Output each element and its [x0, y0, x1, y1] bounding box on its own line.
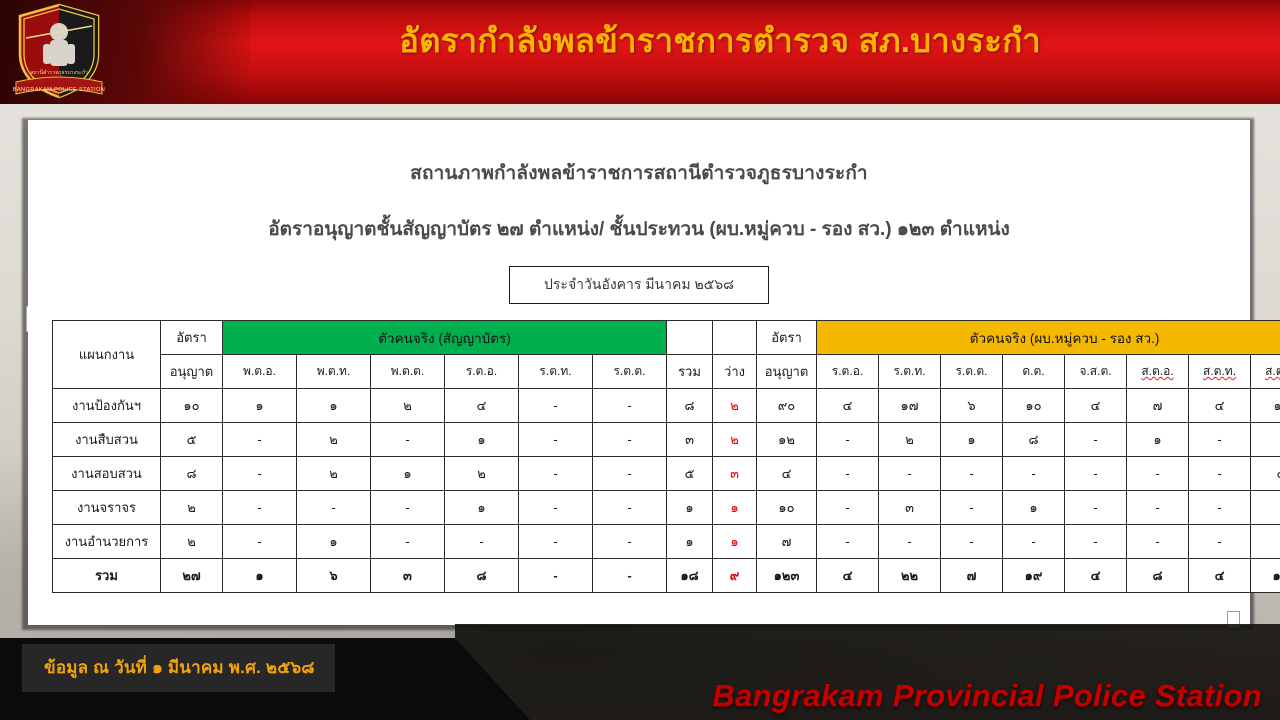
logo-thai-text: สถานีตำรวจภูธรบางระกำ — [30, 69, 88, 76]
cell-actual-noncommissioned-5: - — [1127, 491, 1189, 525]
cell-actual-noncommissioned-0: - — [817, 491, 879, 525]
embedded-spreadsheet-document[interactable]: สถานภาพกำลังพลข้าราชการสถานีตำรวจภูธรบาง… — [28, 120, 1250, 625]
cell-actual-noncommissioned-0: - — [817, 525, 879, 559]
cell-actual-commissioned-2: ๓ — [371, 559, 445, 593]
cell-actual-commissioned-2: ๑ — [371, 457, 445, 491]
table-container: แผนกงาน อัตรา ตัวคนจริง (สัญญาบัตร) อัตร… — [52, 320, 1232, 593]
cell-quota-commissioned: ๒ — [161, 491, 223, 525]
cell-actual-commissioned-1: ๒ — [297, 457, 371, 491]
col-header-rank-n-0: ร.ต.อ. — [817, 355, 879, 389]
cell-actual-noncommissioned-5: ๘ — [1127, 559, 1189, 593]
cell-actual-noncommissioned-2: - — [941, 457, 1003, 491]
cell-actual-noncommissioned-5: - — [1127, 457, 1189, 491]
cell-quota-noncommissioned: ๙๐ — [757, 389, 817, 423]
col-header-department: แผนกงาน — [53, 321, 161, 389]
cell-actual-commissioned-3: ๒ — [445, 457, 519, 491]
cell-sum-commissioned: ๑ — [667, 491, 713, 525]
table-header-sub-row: อนุญาต พ.ต.อ. พ.ต.ท. พ.ต.ต. ร.ต.อ. ร.ต.ท… — [53, 355, 1280, 389]
cell-actual-noncommissioned-3: - — [1003, 525, 1065, 559]
cell-actual-noncommissioned-6: ๔ — [1189, 389, 1251, 423]
cell-actual-commissioned-1: ๖ — [297, 559, 371, 593]
cell-actual-noncommissioned-4: - — [1065, 491, 1127, 525]
cell-vacant-commissioned: ๑ — [713, 491, 757, 525]
cell-actual-noncommissioned-2: ๑ — [941, 423, 1003, 457]
cell-actual-commissioned-4: - — [519, 423, 593, 457]
date-box: ประจำวันอังคาร มีนาคม ๒๕๖๘ — [509, 266, 769, 304]
col-header-rank-n-5: ส.ต.อ. — [1127, 355, 1189, 389]
cell-actual-commissioned-3: ๘ — [445, 559, 519, 593]
cell-actual-noncommissioned-6: ๔ — [1189, 559, 1251, 593]
col-header-rank-n-4: จ.ส.ต. — [1065, 355, 1127, 389]
cell-actual-noncommissioned-1: ๓ — [879, 491, 941, 525]
cell-actual-commissioned-1: ๑ — [297, 389, 371, 423]
cell-actual-commissioned-2: - — [371, 423, 445, 457]
cell-actual-commissioned-1: ๒ — [297, 423, 371, 457]
cell-actual-commissioned-3: - — [445, 525, 519, 559]
group-header-noncommissioned: ตัวคนจริง (ผบ.หมู่ควบ - รอง สว.) — [817, 321, 1280, 355]
col-header-rank-n-6: ส.ต.ท. — [1189, 355, 1251, 389]
cell-actual-commissioned-0: ๑ — [223, 559, 297, 593]
col-header-quota-noncommissioned-1: อัตรา — [757, 321, 817, 355]
group-header-commissioned: ตัวคนจริง (สัญญาบัตร) — [223, 321, 667, 355]
cell-actual-commissioned-3: ๑ — [445, 491, 519, 525]
cell-actual-commissioned-5: - — [593, 457, 667, 491]
cell-actual-noncommissioned-5: ๗ — [1127, 389, 1189, 423]
cell-actual-commissioned-5: - — [593, 389, 667, 423]
cell-department: งานอำนวยการ — [53, 525, 161, 559]
document-heading: สถานภาพกำลังพลข้าราชการสถานีตำรวจภูธรบาง… — [28, 120, 1250, 304]
table-row: งานจราจร๒---๑--๑๑๑๐-๓-๑----๔๖ — [53, 491, 1280, 525]
cell-actual-noncommissioned-4: - — [1065, 423, 1127, 457]
cell-actual-noncommissioned-6: - — [1189, 525, 1251, 559]
col-header-rank-c-0: พ.ต.อ. — [223, 355, 297, 389]
cell-actual-noncommissioned-4: - — [1065, 457, 1127, 491]
cell-actual-noncommissioned-2: ๖ — [941, 389, 1003, 423]
col-header-rank-c-2: พ.ต.ต. — [371, 355, 445, 389]
cell-actual-noncommissioned-7: ๑๔ — [1251, 559, 1280, 593]
table-row: งานป้องกันฯ๑๐๑๑๒๔--๘๒๙๐๔๑๗๖๑๐๔๗๔๑๐๖๒๒๘ — [53, 389, 1280, 423]
cell-actual-noncommissioned-0: ๔ — [817, 559, 879, 593]
col-header-rank-c-5: ร.ต.ต. — [593, 355, 667, 389]
cell-department: รวม — [53, 559, 161, 593]
cell-actual-commissioned-0: - — [223, 457, 297, 491]
table-row: งานสอบสวน๘-๒๑๒--๕๓๔-------๔๔- — [53, 457, 1280, 491]
cell-actual-noncommissioned-3: ๑๐ — [1003, 389, 1065, 423]
cell-sum-commissioned: ๘ — [667, 389, 713, 423]
cell-quota-commissioned: ๕ — [161, 423, 223, 457]
data-as-of-note: ข้อมูล ณ วันที่ ๑ มีนาคม พ.ศ. ๒๕๖๘ — [22, 644, 335, 692]
cell-actual-commissioned-2: ๒ — [371, 389, 445, 423]
cell-quota-commissioned: ๒๗ — [161, 559, 223, 593]
cell-actual-commissioned-4: - — [519, 525, 593, 559]
cell-actual-noncommissioned-4: ๔ — [1065, 559, 1127, 593]
cell-actual-commissioned-1: ๑ — [297, 525, 371, 559]
cell-actual-commissioned-5: - — [593, 423, 667, 457]
cell-actual-noncommissioned-1: ๑๗ — [879, 389, 941, 423]
cell-quota-commissioned: ๒ — [161, 525, 223, 559]
col-header-vacant-commissioned: ว่าง — [713, 355, 757, 389]
cell-quota-noncommissioned: ๗ — [757, 525, 817, 559]
cell-actual-noncommissioned-1: - — [879, 525, 941, 559]
table-total-row: รวม๒๗๑๖๓๘--๑๘๙๑๒๓๔๒๒๗๑๙๔๘๔๑๔๗๒๕๑ — [53, 559, 1280, 593]
document-title-line2: อัตราอนุญาตชั้นสัญญาบัตร ๒๗ ตำแหน่ง/ ชั้… — [28, 214, 1250, 244]
col-header-rank-n-3: ด.ต. — [1003, 355, 1065, 389]
cell-actual-commissioned-0: - — [223, 491, 297, 525]
cell-actual-commissioned-5: - — [593, 559, 667, 593]
spacer-sum-commissioned — [667, 321, 713, 355]
col-header-sum-commissioned: รวม — [667, 355, 713, 389]
cell-actual-noncommissioned-5: - — [1127, 525, 1189, 559]
cell-quota-noncommissioned: ๑๒๓ — [757, 559, 817, 593]
col-header-rank-c-1: พ.ต.ท. — [297, 355, 371, 389]
col-header-quota-commissioned-2: อนุญาต — [161, 355, 223, 389]
cell-actual-noncommissioned-1: ๒ — [879, 423, 941, 457]
spacer-vacant-commissioned — [713, 321, 757, 355]
cell-vacant-commissioned: ๒ — [713, 389, 757, 423]
col-header-rank-n-7: ส.ต.ต. — [1251, 355, 1280, 389]
cell-actual-commissioned-4: - — [519, 491, 593, 525]
cell-actual-commissioned-0: ๑ — [223, 389, 297, 423]
cell-actual-noncommissioned-7: - — [1251, 491, 1280, 525]
cell-actual-commissioned-5: - — [593, 525, 667, 559]
cell-actual-noncommissioned-4: ๔ — [1065, 389, 1127, 423]
cell-actual-noncommissioned-6: - — [1189, 423, 1251, 457]
cell-actual-commissioned-3: ๑ — [445, 423, 519, 457]
table-head: แผนกงาน อัตรา ตัวคนจริง (สัญญาบัตร) อัตร… — [53, 321, 1280, 389]
col-header-rank-n-2: ร.ต.ต. — [941, 355, 1003, 389]
police-badge-logo: สถานีตำรวจภูธรบางระกำ BANGRAKAM POLICE S… — [12, 2, 106, 102]
cell-actual-noncommissioned-6: - — [1189, 491, 1251, 525]
cell-vacant-commissioned: ๙ — [713, 559, 757, 593]
cell-sum-commissioned: ๑ — [667, 525, 713, 559]
cell-vacant-commissioned: ๑ — [713, 525, 757, 559]
cell-actual-noncommissioned-2: - — [941, 491, 1003, 525]
cell-actual-commissioned-1: - — [297, 491, 371, 525]
cell-sum-commissioned: ๓ — [667, 423, 713, 457]
col-header-rank-c-3: ร.ต.อ. — [445, 355, 519, 389]
cell-actual-noncommissioned-7: - — [1251, 423, 1280, 457]
cell-quota-noncommissioned: ๑๒ — [757, 423, 817, 457]
cell-actual-noncommissioned-0: - — [817, 423, 879, 457]
station-name: Bangrakam Provincial Police Station — [712, 678, 1262, 714]
cell-actual-commissioned-3: ๔ — [445, 389, 519, 423]
cell-actual-noncommissioned-6: - — [1189, 457, 1251, 491]
cell-department: งานสืบสวน — [53, 423, 161, 457]
cell-quota-noncommissioned: ๔ — [757, 457, 817, 491]
table-row: งานอำนวยการ๒-๑----๑๑๗---------๗ — [53, 525, 1280, 559]
page-title: อัตรากำลังพลข้าราชการตำรวจ สภ.บางระกำ — [200, 20, 1240, 61]
staffing-table: แผนกงาน อัตรา ตัวคนจริง (สัญญาบัตร) อัตร… — [52, 320, 1280, 593]
document-title-line1: สถานภาพกำลังพลข้าราชการสถานีตำรวจภูธรบาง… — [28, 158, 1250, 188]
cell-actual-noncommissioned-7: ๑๐ — [1251, 389, 1280, 423]
logo-ribbon-text: BANGRAKAM POLICE STATION — [13, 87, 105, 93]
cell-quota-commissioned: ๘ — [161, 457, 223, 491]
cell-actual-commissioned-4: - — [519, 457, 593, 491]
cell-actual-commissioned-0: - — [223, 525, 297, 559]
table-header-group-row: แผนกงาน อัตรา ตัวคนจริง (สัญญาบัตร) อัตร… — [53, 321, 1280, 355]
cell-actual-noncommissioned-0: ๔ — [817, 389, 879, 423]
slide: สถานีตำรวจภูธรบางระกำ BANGRAKAM POLICE S… — [0, 0, 1280, 720]
cell-actual-commissioned-2: - — [371, 525, 445, 559]
cell-department: งานสอบสวน — [53, 457, 161, 491]
cell-actual-noncommissioned-3: ๑ — [1003, 491, 1065, 525]
cell-actual-noncommissioned-4: - — [1065, 525, 1127, 559]
cell-vacant-commissioned: ๓ — [713, 457, 757, 491]
cell-actual-commissioned-4: - — [519, 559, 593, 593]
cell-department: งานป้องกันฯ — [53, 389, 161, 423]
cell-actual-noncommissioned-1: ๒๒ — [879, 559, 941, 593]
cell-sum-commissioned: ๑๘ — [667, 559, 713, 593]
table-body: งานป้องกันฯ๑๐๑๑๒๔--๘๒๙๐๔๑๗๖๑๐๔๗๔๑๐๖๒๒๘งา… — [53, 389, 1280, 593]
cell-actual-noncommissioned-1: - — [879, 457, 941, 491]
cell-actual-noncommissioned-0: - — [817, 457, 879, 491]
cell-actual-noncommissioned-3: - — [1003, 457, 1065, 491]
cell-actual-commissioned-4: - — [519, 389, 593, 423]
cell-actual-noncommissioned-7: - — [1251, 525, 1280, 559]
col-header-quota-commissioned-1: อัตรา — [161, 321, 223, 355]
col-header-rank-n-1: ร.ต.ท. — [879, 355, 941, 389]
cell-actual-commissioned-0: - — [223, 423, 297, 457]
cell-actual-noncommissioned-3: ๑๙ — [1003, 559, 1065, 593]
cell-quota-noncommissioned: ๑๐ — [757, 491, 817, 525]
cell-actual-noncommissioned-7: ๔ — [1251, 457, 1280, 491]
cell-department: งานจราจร — [53, 491, 161, 525]
cell-quota-commissioned: ๑๐ — [161, 389, 223, 423]
cell-actual-noncommissioned-2: - — [941, 525, 1003, 559]
header-bar: สถานีตำรวจภูธรบางระกำ BANGRAKAM POLICE S… — [0, 0, 1280, 104]
table-row: งานสืบสวน๕-๒-๑--๓๒๑๒-๒๑๘-๑--๑๒- — [53, 423, 1280, 457]
col-header-rank-c-4: ร.ต.ท. — [519, 355, 593, 389]
cell-actual-noncommissioned-5: ๑ — [1127, 423, 1189, 457]
cell-vacant-commissioned: ๒ — [713, 423, 757, 457]
cell-actual-noncommissioned-2: ๗ — [941, 559, 1003, 593]
cell-actual-noncommissioned-3: ๘ — [1003, 423, 1065, 457]
cell-sum-commissioned: ๕ — [667, 457, 713, 491]
shield-icon: สถานีตำรวจภูธรบางระกำ BANGRAKAM POLICE S… — [12, 2, 106, 102]
cell-actual-commissioned-2: - — [371, 491, 445, 525]
col-header-quota-noncommissioned-2: อนุญาต — [757, 355, 817, 389]
cell-actual-commissioned-5: - — [593, 491, 667, 525]
